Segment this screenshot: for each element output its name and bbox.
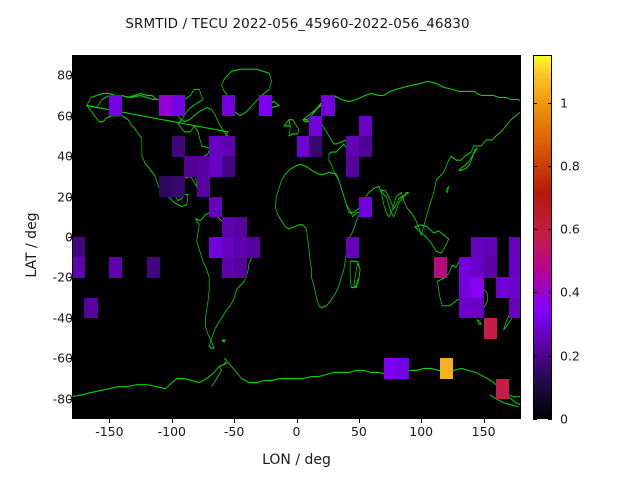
heatmap-cell <box>434 257 447 278</box>
heatmap-cell <box>209 156 222 177</box>
heatmap-cell <box>359 197 372 218</box>
x-tick-mark <box>359 419 360 423</box>
colorbar-tick-label: 0.2 <box>560 348 580 363</box>
y-tick-label: -20 <box>53 270 73 285</box>
colorbar <box>533 55 552 419</box>
heatmap-cell <box>496 277 509 298</box>
heatmap-cell <box>172 136 185 157</box>
heatmap-cell <box>222 257 235 278</box>
figure-canvas: SRMTID / TECU 2022-056_45960-2022-056_46… <box>0 0 640 480</box>
heatmap-cell <box>384 358 397 379</box>
heatmap-cell <box>222 136 235 157</box>
heatmap-cell <box>459 257 472 278</box>
heatmap-cell <box>346 156 359 177</box>
heatmap-cell <box>234 237 247 258</box>
y-tick-label: 20 <box>57 189 73 204</box>
colorbar-tick-mark <box>548 292 552 293</box>
x-tick-mark <box>297 419 298 423</box>
heatmap-cell <box>234 217 247 238</box>
heatmap-cell <box>509 237 521 258</box>
heatmap-cell <box>259 95 272 116</box>
heatmap-cell <box>109 95 122 116</box>
colorbar-tick-label: 0.4 <box>560 285 580 300</box>
y-tick-label: -80 <box>53 391 73 406</box>
colorbar-tick-label: 0 <box>560 412 568 427</box>
x-tick-label: -50 <box>224 424 244 439</box>
heatmap-cell <box>72 257 85 278</box>
heatmap-cell <box>459 277 472 298</box>
colorbar-tick-mark <box>533 229 537 230</box>
heatmap-cell <box>309 136 322 157</box>
x-tick-label: 150 <box>472 424 496 439</box>
colorbar-tick-mark <box>548 419 552 420</box>
heatmap-cell <box>172 95 185 116</box>
x-tick-mark <box>421 419 422 423</box>
heatmap-cell <box>222 237 235 258</box>
heatmap-cell <box>484 318 497 339</box>
x-tick-label: -100 <box>158 424 186 439</box>
heatmap-cell <box>509 298 521 319</box>
heatmap-cell <box>471 257 484 278</box>
y-tick-label: -60 <box>53 351 73 366</box>
colorbar-tick-mark <box>548 103 552 104</box>
x-tick-label: 100 <box>409 424 433 439</box>
heatmap-cell <box>471 298 484 319</box>
colorbar-tick-mark <box>548 166 552 167</box>
heatmap-cell <box>222 95 235 116</box>
heatmap-cell <box>172 176 185 197</box>
x-tick-label: -150 <box>95 424 123 439</box>
heatmap-cell <box>197 176 210 197</box>
heatmap-cell <box>471 237 484 258</box>
heatmap-cell <box>346 237 359 258</box>
heatmap-cell <box>209 237 222 258</box>
heatmap-cell <box>109 257 122 278</box>
heatmap-cell <box>147 257 160 278</box>
heatmap-cell <box>484 237 497 258</box>
y-tick-label: 40 <box>57 149 73 164</box>
heatmap-cell <box>184 156 197 177</box>
heatmap-cell <box>309 116 322 137</box>
heatmap-cell <box>321 95 334 116</box>
heatmap-cell <box>359 136 372 157</box>
x-tick-mark <box>172 419 173 423</box>
y-axis-label: LAT / deg <box>24 135 40 355</box>
colorbar-tick-mark <box>533 166 537 167</box>
heatmap-cell-layer <box>72 55 521 419</box>
heatmap-cell <box>509 277 521 298</box>
heatmap-cell <box>209 197 222 218</box>
colorbar-tick-label: 0.8 <box>560 158 580 173</box>
heatmap-cell <box>247 237 260 258</box>
heatmap-cell <box>209 136 222 157</box>
heatmap-cell <box>471 277 484 298</box>
colorbar-tick-mark <box>548 356 552 357</box>
x-tick-mark <box>484 419 485 423</box>
heatmap-cell <box>197 156 210 177</box>
y-tick-label: 80 <box>57 68 73 83</box>
heatmap-cell <box>297 136 310 157</box>
x-tick-mark <box>109 419 110 423</box>
heatmap-cell <box>234 257 247 278</box>
heatmap-cell <box>72 237 85 258</box>
heatmap-cell <box>459 298 472 319</box>
y-tick-label: -40 <box>53 310 73 325</box>
heatmap-cell <box>159 95 172 116</box>
y-tick-label: 0 <box>65 230 73 245</box>
colorbar-tick-mark <box>548 229 552 230</box>
heatmap-cell <box>359 116 372 137</box>
colorbar-gradient <box>534 56 551 418</box>
heatmap-cell <box>484 257 497 278</box>
heatmap-cell <box>440 358 453 379</box>
colorbar-tick-mark <box>533 103 537 104</box>
heatmap-cell <box>159 176 172 197</box>
heatmap-cell <box>222 217 235 238</box>
heatmap-cell <box>509 257 521 278</box>
colorbar-tick-mark <box>533 292 537 293</box>
x-tick-label: 50 <box>351 424 367 439</box>
heatmap-cell <box>346 136 359 157</box>
colorbar-tick-label: 0.6 <box>560 222 580 237</box>
x-tick-mark <box>234 419 235 423</box>
colorbar-tick-mark <box>533 419 537 420</box>
heatmap-cell <box>222 156 235 177</box>
chart-title: SRMTID / TECU 2022-056_45960-2022-056_46… <box>0 16 595 32</box>
x-axis-label: LON / deg <box>72 452 521 468</box>
colorbar-tick-label: 1 <box>560 95 568 110</box>
heatmap-cell <box>396 358 409 379</box>
map-plot-area <box>72 55 521 419</box>
x-tick-label: 0 <box>293 424 301 439</box>
heatmap-cell <box>84 298 97 319</box>
colorbar-tick-mark <box>533 356 537 357</box>
heatmap-cell <box>496 379 509 400</box>
y-tick-label: 60 <box>57 108 73 123</box>
